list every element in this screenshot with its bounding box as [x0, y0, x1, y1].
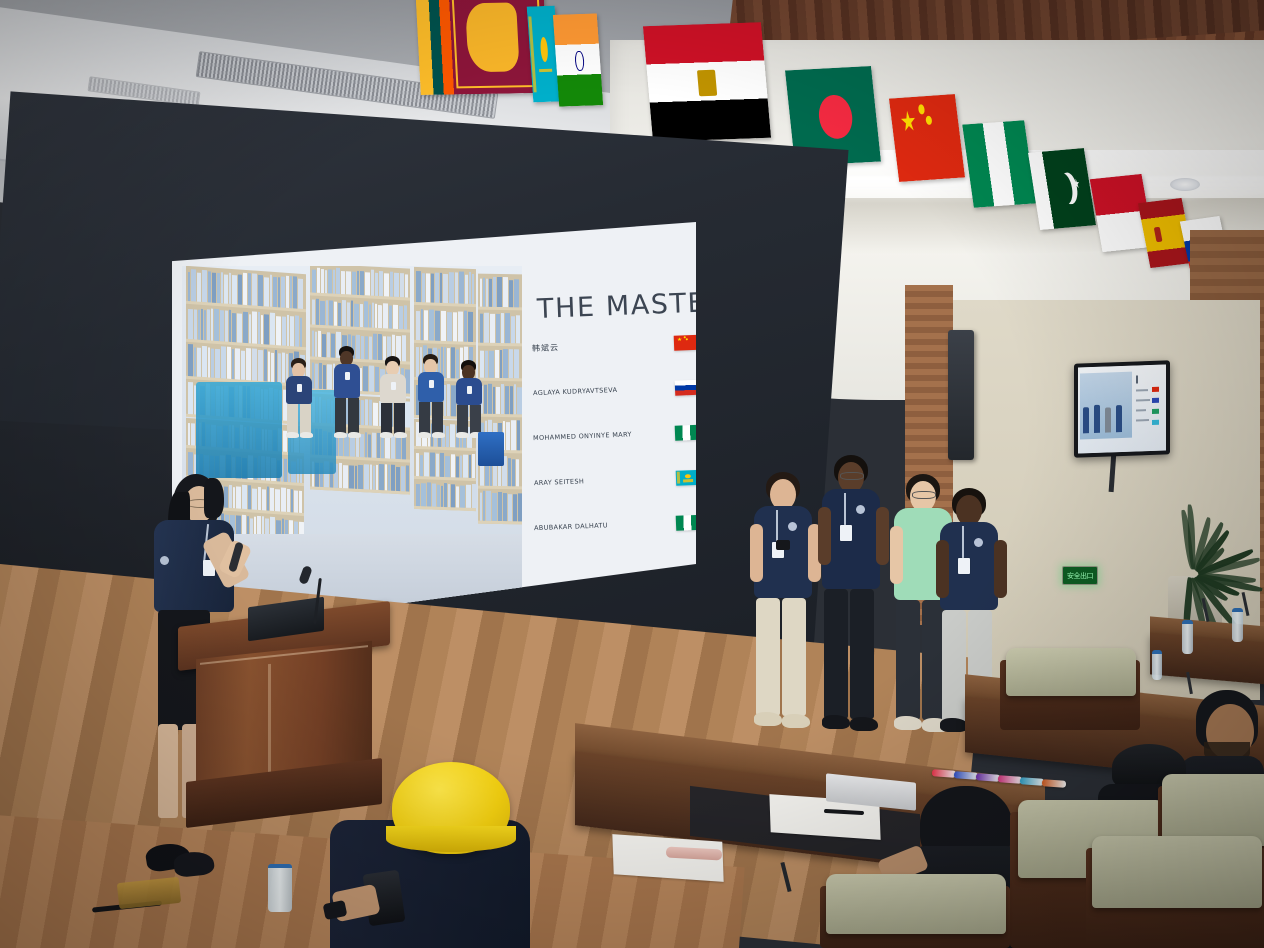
emergency-exit-sign: 安全出口: [1062, 566, 1098, 585]
polo-logo: [160, 556, 169, 565]
auditorium-chair: [826, 874, 1006, 934]
water-bottle: [1152, 650, 1162, 680]
flag-nigeria: [962, 120, 1036, 208]
pen: [1042, 779, 1066, 788]
master-name: ARAY SEITESH: [534, 477, 584, 487]
master-flag-russia: [674, 379, 698, 395]
conference-hall-photo: 安全出口: [0, 0, 1264, 948]
library-display-case: [196, 382, 282, 478]
master-row: ARAY SEITESH: [533, 464, 699, 496]
master-flag-china: [674, 334, 698, 350]
downlight-icon: [1170, 178, 1200, 191]
tote-bag: [478, 432, 504, 466]
bookshelf: [478, 274, 522, 525]
water-bottle: [1182, 620, 1193, 654]
master-flag-kazakhstan: [675, 469, 699, 485]
flag-pakistan: [1028, 148, 1096, 230]
wall-tv: [1074, 360, 1170, 457]
master-name: MOHAMMED ONYINYE MARY: [533, 430, 632, 442]
exit-sign-label: 安全出口: [1067, 571, 1093, 581]
flag-egypt: [643, 22, 771, 142]
auditorium-chair: [1006, 648, 1136, 696]
auditorium-chair: [1092, 836, 1262, 908]
master-row: 韩斌云: [532, 329, 698, 361]
master-row: MOHAMMED ONYINYE MARY: [533, 419, 699, 451]
master-row: AGLAYA KUDRYAVTSEVA: [532, 374, 698, 406]
phone: [776, 540, 790, 550]
master-name: AGLAYA KUDRYAVTSEVA: [533, 386, 618, 397]
wall-tv-screen: [1078, 364, 1166, 453]
wall-speaker: [948, 330, 974, 460]
master-name: ABUBAKAR DALHATU: [534, 521, 608, 532]
master-row: ABUBAKAR DALHATU: [534, 509, 700, 541]
master-name: 韩斌云: [532, 342, 559, 354]
flag-india: [553, 13, 603, 106]
water-bottle: [1232, 608, 1243, 642]
flag-china: [889, 94, 965, 182]
projection-screen: THE MASTERS 韩斌云AGLAYA KUDRYAVTSEVAMOHAMM…: [172, 222, 696, 634]
master-flag-nigeria: [675, 424, 699, 440]
water-bottle: [268, 864, 292, 912]
